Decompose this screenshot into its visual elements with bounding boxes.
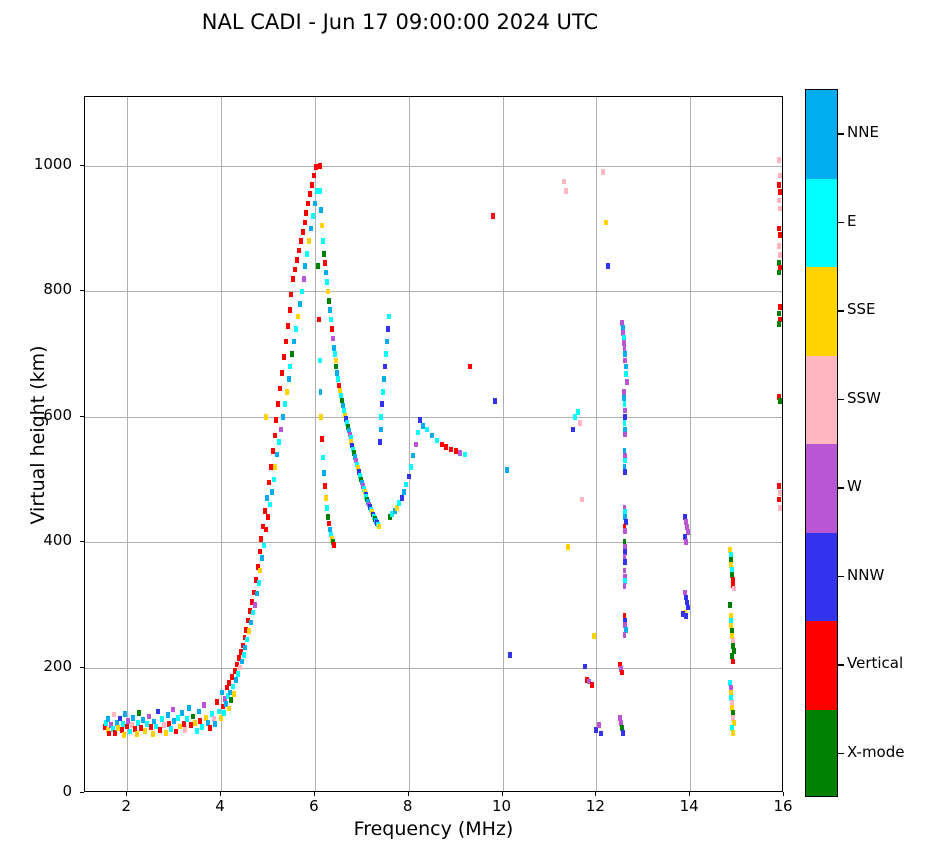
echo-point [276, 401, 280, 407]
x-tick-mark [126, 792, 127, 796]
echo-point [326, 289, 330, 295]
colorbar-label-nne: NNE [847, 123, 879, 141]
echo-point [564, 188, 568, 194]
x-tick-label: 14 [667, 797, 711, 815]
echo-point [322, 251, 326, 257]
echo-point [319, 188, 323, 194]
echo-point [234, 677, 238, 683]
echo-point [777, 157, 781, 163]
echo-point [312, 173, 316, 179]
echo-point [316, 263, 320, 269]
echo-point [449, 447, 453, 453]
echo-point [197, 709, 201, 715]
echo-point [378, 439, 382, 445]
echo-point [624, 371, 628, 377]
echo-point [112, 712, 116, 718]
echo-point [277, 439, 281, 445]
echo-point [336, 376, 340, 382]
x-tick-label: 16 [761, 797, 805, 815]
echo-point [291, 276, 295, 282]
echo-point [409, 464, 413, 470]
gridline-vertical [409, 97, 410, 791]
echo-point [777, 321, 781, 327]
echo-point [778, 252, 782, 258]
echo-point [387, 314, 391, 320]
echo-point [430, 433, 434, 439]
echo-point [284, 339, 288, 345]
colorbar-tick [838, 664, 844, 665]
colorbar-label-w: W [847, 477, 862, 495]
echo-point [285, 389, 289, 395]
colorbar-label-nnw: NNW [847, 566, 884, 584]
echo-point [604, 220, 608, 226]
echo-point [778, 189, 782, 195]
gridline-vertical [596, 97, 597, 791]
echo-point [296, 314, 300, 320]
echo-point [778, 490, 782, 496]
echo-point [778, 232, 782, 238]
echo-point [623, 528, 627, 534]
echo-point [259, 536, 263, 542]
colorbar-tick [838, 487, 844, 488]
echo-point [288, 307, 292, 313]
echo-point [193, 720, 197, 726]
echo-point [777, 270, 781, 276]
echo-point [599, 731, 603, 737]
echo-point [219, 715, 223, 721]
echo-point [317, 317, 321, 323]
echo-point [156, 709, 160, 715]
y-tick-mark [80, 667, 84, 668]
echo-point [273, 464, 277, 470]
echo-point [384, 351, 388, 357]
echo-point [304, 210, 308, 216]
plot-area [84, 96, 783, 792]
echo-point [623, 351, 627, 357]
echo-point [777, 497, 781, 503]
echo-point [272, 477, 276, 483]
y-tick-label: 200 [0, 657, 72, 675]
echo-point [325, 279, 329, 285]
echo-point [164, 730, 168, 736]
echo-point [623, 420, 627, 426]
echo-point [778, 505, 782, 511]
echo-point [597, 722, 601, 728]
echo-point [777, 243, 781, 249]
echo-point [260, 555, 264, 561]
echo-point [407, 474, 411, 480]
echo-point [309, 226, 313, 232]
y-axis-label: Virtual height (km) [27, 255, 49, 615]
echo-point [128, 729, 132, 735]
echo-point [305, 251, 309, 257]
echo-point [319, 207, 323, 213]
echo-point [411, 453, 415, 459]
echo-point [227, 706, 231, 712]
echo-point [728, 602, 732, 608]
echo-point [298, 301, 302, 307]
echo-point [270, 489, 274, 495]
echo-point [251, 610, 255, 616]
echo-point [240, 659, 244, 665]
echo-point [620, 670, 624, 676]
colorbar-tick [838, 753, 844, 754]
y-tick-label: 1000 [0, 155, 72, 173]
echo-point [444, 444, 448, 450]
colorbar[interactable] [805, 89, 838, 797]
x-tick-mark [689, 792, 690, 796]
echo-point [231, 684, 235, 690]
colorbar-label-sse: SSE [847, 300, 876, 318]
echo-point [327, 521, 331, 527]
echo-point [623, 345, 627, 351]
echo-point [320, 436, 324, 442]
echo-point [313, 201, 317, 207]
echo-point [300, 289, 304, 295]
echo-point [183, 727, 187, 733]
echo-point [273, 433, 277, 439]
echo-point [333, 351, 337, 357]
echo-point [332, 542, 336, 548]
echo-point [255, 591, 259, 597]
echo-point [380, 401, 384, 407]
gridline-vertical [127, 97, 128, 791]
colorbar-label-x-mode: X-mode [847, 743, 904, 761]
echo-point [323, 483, 327, 489]
echo-point [777, 226, 781, 232]
echo-point [622, 389, 626, 395]
echo-point [222, 710, 226, 716]
echo-point [508, 652, 512, 658]
echo-point [166, 712, 170, 718]
echo-point [334, 358, 338, 364]
echo-point [174, 729, 178, 735]
echo-point [681, 611, 685, 617]
colorbar-tick [838, 310, 844, 311]
echo-point [566, 544, 570, 550]
echo-point [176, 715, 180, 721]
colorbar-band-nne[interactable] [806, 90, 837, 179]
echo-point [122, 732, 126, 738]
echo-point [491, 213, 495, 219]
colorbar-tick [838, 576, 844, 577]
echo-point [262, 543, 266, 549]
echo-point [213, 721, 217, 727]
echo-point [386, 326, 390, 332]
echo-point [191, 714, 195, 720]
colorbar-band-w[interactable] [806, 444, 837, 533]
echo-point [283, 401, 287, 407]
echo-point [257, 580, 261, 586]
x-tick-mark [595, 792, 596, 796]
x-tick-label: 12 [573, 797, 617, 815]
colorbar-label-e: E [847, 212, 856, 230]
echo-point [306, 201, 310, 207]
echo-point [463, 452, 467, 458]
echo-point [505, 467, 509, 473]
echo-point [583, 664, 587, 670]
gridline-vertical [503, 97, 504, 791]
echo-point [106, 716, 110, 722]
colorbar-label-vertical: Vertical [847, 654, 903, 672]
echo-point [151, 731, 155, 737]
echo-point [318, 163, 322, 169]
echo-point [279, 427, 283, 433]
echo-point [245, 637, 249, 643]
echo-point [208, 725, 212, 731]
colorbar-label-ssw: SSW [847, 389, 881, 407]
echo-point [287, 376, 291, 382]
echo-point [382, 376, 386, 382]
echo-point [220, 690, 224, 696]
echo-point [123, 711, 127, 717]
gridline-horizontal [85, 542, 782, 543]
echo-point [731, 730, 735, 736]
colorbar-tick [838, 222, 844, 223]
echo-point [236, 671, 240, 677]
echo-point [592, 633, 596, 639]
echo-point [321, 455, 325, 461]
gridline-horizontal [85, 291, 782, 292]
echo-point [400, 495, 404, 501]
echo-point [274, 417, 278, 423]
colorbar-tick [838, 133, 844, 134]
echo-point [731, 659, 735, 665]
echo-point [778, 173, 782, 179]
echo-point [331, 336, 335, 342]
x-tick-mark [502, 792, 503, 796]
echo-point [149, 724, 153, 730]
echo-point [324, 495, 328, 501]
echo-point [202, 702, 206, 708]
echo-point [324, 270, 328, 276]
echo-point [264, 527, 268, 533]
echo-point [160, 716, 164, 722]
echo-point [404, 482, 408, 488]
echo-point [335, 370, 339, 376]
echo-point [623, 583, 627, 589]
echo-point [377, 524, 381, 530]
echo-point [418, 417, 422, 423]
x-tick-mark [783, 792, 784, 796]
echo-point [275, 452, 279, 458]
echo-point [624, 364, 628, 370]
x-axis-label: Frequency (MHz) [84, 818, 783, 840]
echo-point [264, 414, 268, 420]
echo-point [625, 379, 629, 385]
y-tick-mark [80, 416, 84, 417]
echo-point [185, 716, 189, 722]
x-tick-mark [220, 792, 221, 796]
echo-point [243, 645, 247, 651]
echo-point [232, 691, 236, 697]
gridline-vertical [690, 97, 691, 791]
echo-point [229, 697, 233, 703]
echo-point [325, 505, 329, 511]
x-tick-label: 8 [386, 797, 430, 815]
echo-point [302, 276, 306, 282]
gridline-horizontal [85, 417, 782, 418]
echo-point [282, 354, 286, 360]
echo-point [425, 427, 429, 433]
echo-point [468, 364, 472, 370]
echo-point [778, 206, 782, 212]
echo-point [265, 495, 269, 501]
echo-point [267, 480, 271, 486]
echo-point [247, 628, 251, 634]
echo-point [258, 549, 262, 555]
echo-point [590, 682, 594, 688]
echo-point [198, 718, 202, 724]
echo-point [169, 726, 173, 732]
echo-point [258, 568, 262, 574]
echo-point [303, 220, 307, 226]
y-tick-mark [80, 290, 84, 291]
echo-point [332, 345, 336, 351]
echo-point [281, 414, 285, 420]
colorbar-band-e[interactable] [806, 179, 837, 268]
echo-point [217, 709, 221, 715]
echo-point [195, 728, 199, 734]
echo-point [242, 652, 246, 658]
echo-point [601, 169, 605, 175]
echo-point [623, 401, 627, 407]
echo-point [288, 364, 292, 370]
echo-point [334, 364, 338, 370]
echo-point [323, 260, 327, 266]
echo-point [121, 721, 125, 727]
echo-point [269, 464, 273, 470]
echo-point [414, 442, 418, 448]
echo-point [327, 298, 331, 304]
x-tick-label: 10 [480, 797, 524, 815]
echo-point [268, 502, 272, 508]
echo-point [238, 665, 242, 671]
echo-point [308, 191, 312, 197]
echo-point [777, 483, 781, 489]
echo-point [171, 707, 175, 713]
echo-point [200, 724, 204, 730]
echo-point [158, 727, 162, 733]
echo-point [458, 450, 462, 456]
echo-point [328, 307, 332, 313]
echo-point [301, 229, 305, 235]
echo-point [330, 326, 334, 332]
echo-point [319, 414, 323, 420]
echo-point [253, 602, 257, 608]
echo-point [778, 304, 782, 310]
echo-point [307, 238, 311, 244]
echo-point [137, 710, 141, 716]
echo-point [571, 427, 575, 433]
echo-point [249, 620, 253, 626]
echo-point [578, 420, 582, 426]
echo-point [299, 238, 303, 244]
echo-point [289, 292, 293, 298]
echo-point [440, 442, 444, 448]
echo-point [416, 430, 420, 436]
echo-point [381, 389, 385, 395]
echo-point [135, 731, 139, 737]
echo-point [623, 469, 627, 475]
echo-point [573, 414, 577, 420]
ionogram-page: NAL CADI - Jun 17 09:00:00 2024 UTC 2468… [0, 0, 951, 856]
echo-point [435, 438, 439, 444]
colorbar-band-ssw[interactable] [806, 356, 837, 445]
echo-point [294, 326, 298, 332]
echo-point [379, 427, 383, 433]
echo-point [263, 508, 267, 514]
echo-point [623, 568, 627, 574]
page-title: NAL CADI - Jun 17 09:00:00 2024 UTC [0, 10, 800, 34]
echo-point [311, 213, 315, 219]
colorbar-band-x-mode[interactable] [806, 710, 837, 798]
echo-point [143, 728, 147, 734]
echo-point [623, 458, 627, 464]
echo-point [162, 722, 166, 728]
echo-point [493, 398, 497, 404]
echo-point [623, 632, 627, 638]
echo-point [623, 432, 627, 438]
echo-point [623, 408, 627, 414]
echo-point [329, 317, 333, 323]
echo-point [271, 448, 275, 454]
gridline-vertical [221, 97, 222, 791]
colorbar-band-sse[interactable] [806, 267, 837, 356]
echo-point [623, 414, 627, 420]
echo-point [576, 409, 580, 415]
echo-point [320, 223, 324, 229]
x-tick-label: 2 [104, 797, 148, 815]
echo-point [182, 721, 186, 727]
echo-point [777, 311, 781, 317]
y-tick-mark [80, 165, 84, 166]
echo-point [321, 238, 325, 244]
echo-point [290, 351, 294, 357]
colorbar-tick [838, 399, 844, 400]
echo-point [684, 539, 688, 545]
echo-point [113, 730, 117, 736]
echo-point [131, 715, 135, 721]
echo-point [293, 267, 297, 273]
echo-point [303, 263, 307, 269]
echo-point [326, 514, 330, 520]
gridline-horizontal [85, 668, 782, 669]
echo-point [623, 358, 627, 364]
echo-point [562, 179, 566, 185]
echo-point [187, 705, 191, 711]
echo-point [623, 559, 627, 565]
echo-point [295, 257, 299, 263]
x-tick-label: 4 [198, 797, 242, 815]
y-tick-label: 0 [0, 782, 72, 800]
x-tick-label: 6 [292, 797, 336, 815]
echo-point [280, 370, 284, 376]
echo-point [454, 448, 458, 454]
colorbar-band-vertical[interactable] [806, 621, 837, 710]
colorbar-band-nnw[interactable] [806, 533, 837, 622]
x-tick-mark [408, 792, 409, 796]
echo-point [286, 323, 290, 329]
echo-point [292, 339, 296, 345]
y-tick-mark [80, 792, 84, 793]
echo-point [621, 730, 625, 736]
echo-point [215, 699, 219, 705]
echo-point [379, 414, 383, 420]
echo-point [402, 489, 406, 495]
echo-point [594, 727, 598, 733]
echo-point [383, 364, 387, 370]
